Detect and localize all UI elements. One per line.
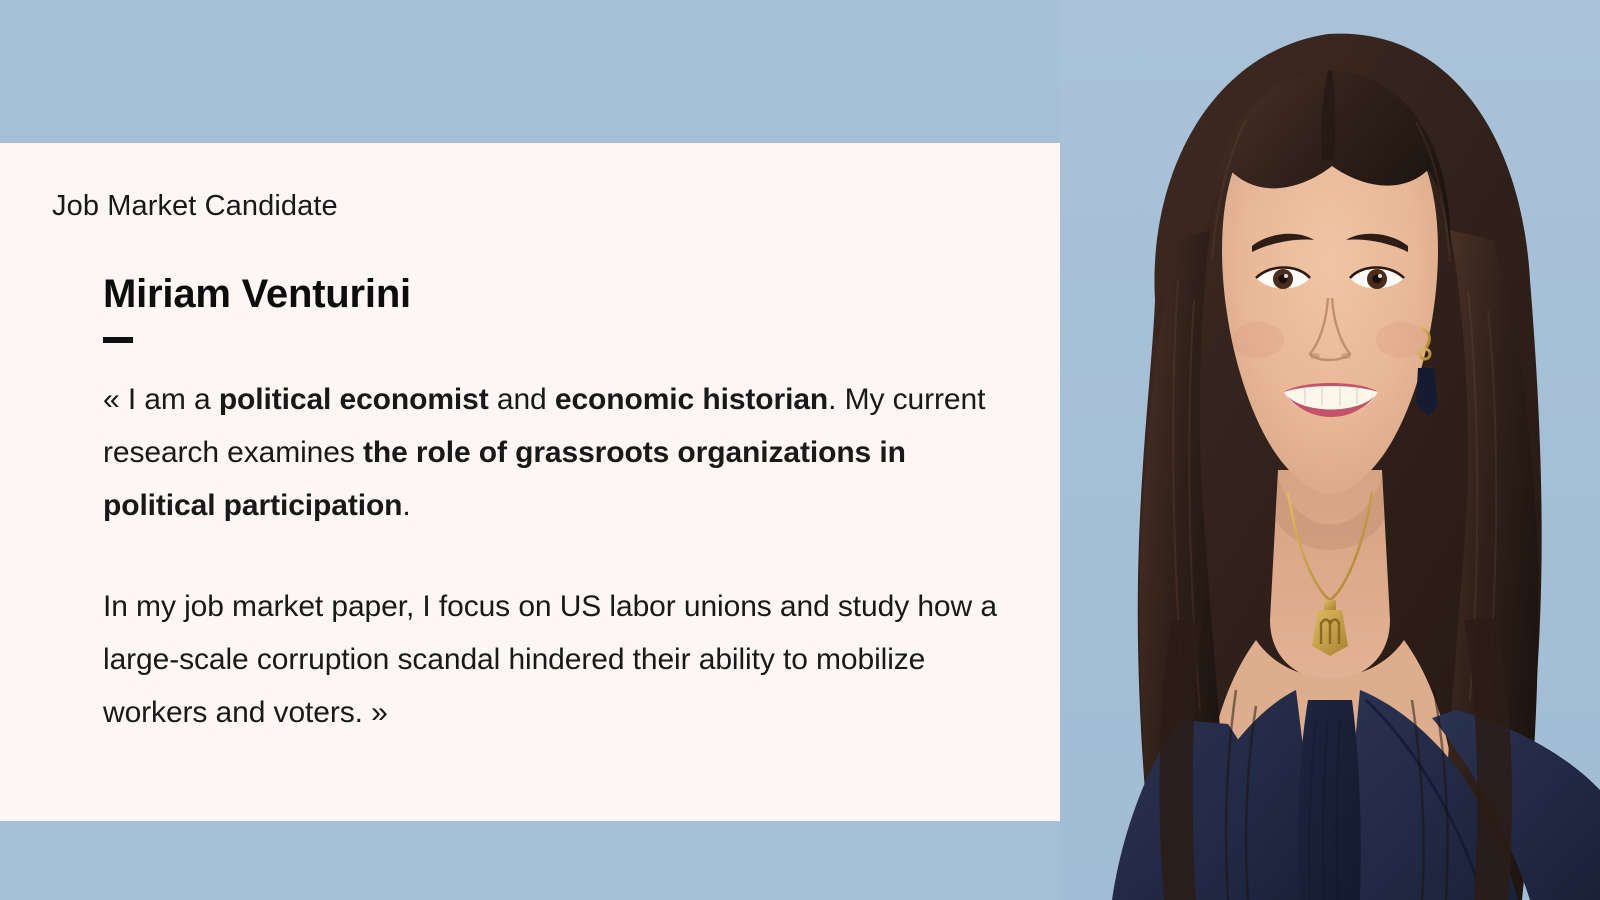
inner-top	[1298, 700, 1361, 900]
card-kicker: Job Market Candidate	[52, 189, 338, 224]
quote-paragraph-2: In my job market paper, I focus on US la…	[103, 580, 1023, 739]
portrait-illustration	[1060, 0, 1600, 900]
quote-paragraph-1: « I am a political economist and economi…	[103, 373, 1023, 532]
portrait-photo	[1060, 0, 1600, 900]
card-body: Miriam Venturini « I am a political econ…	[103, 271, 1023, 739]
candidate-card: Job Market Candidate Miriam Venturini « …	[0, 143, 1070, 821]
slide-canvas: Job Market Candidate Miriam Venturini « …	[0, 0, 1600, 900]
candidate-name: Miriam Venturini	[103, 271, 1023, 317]
divider-rule	[103, 337, 133, 343]
